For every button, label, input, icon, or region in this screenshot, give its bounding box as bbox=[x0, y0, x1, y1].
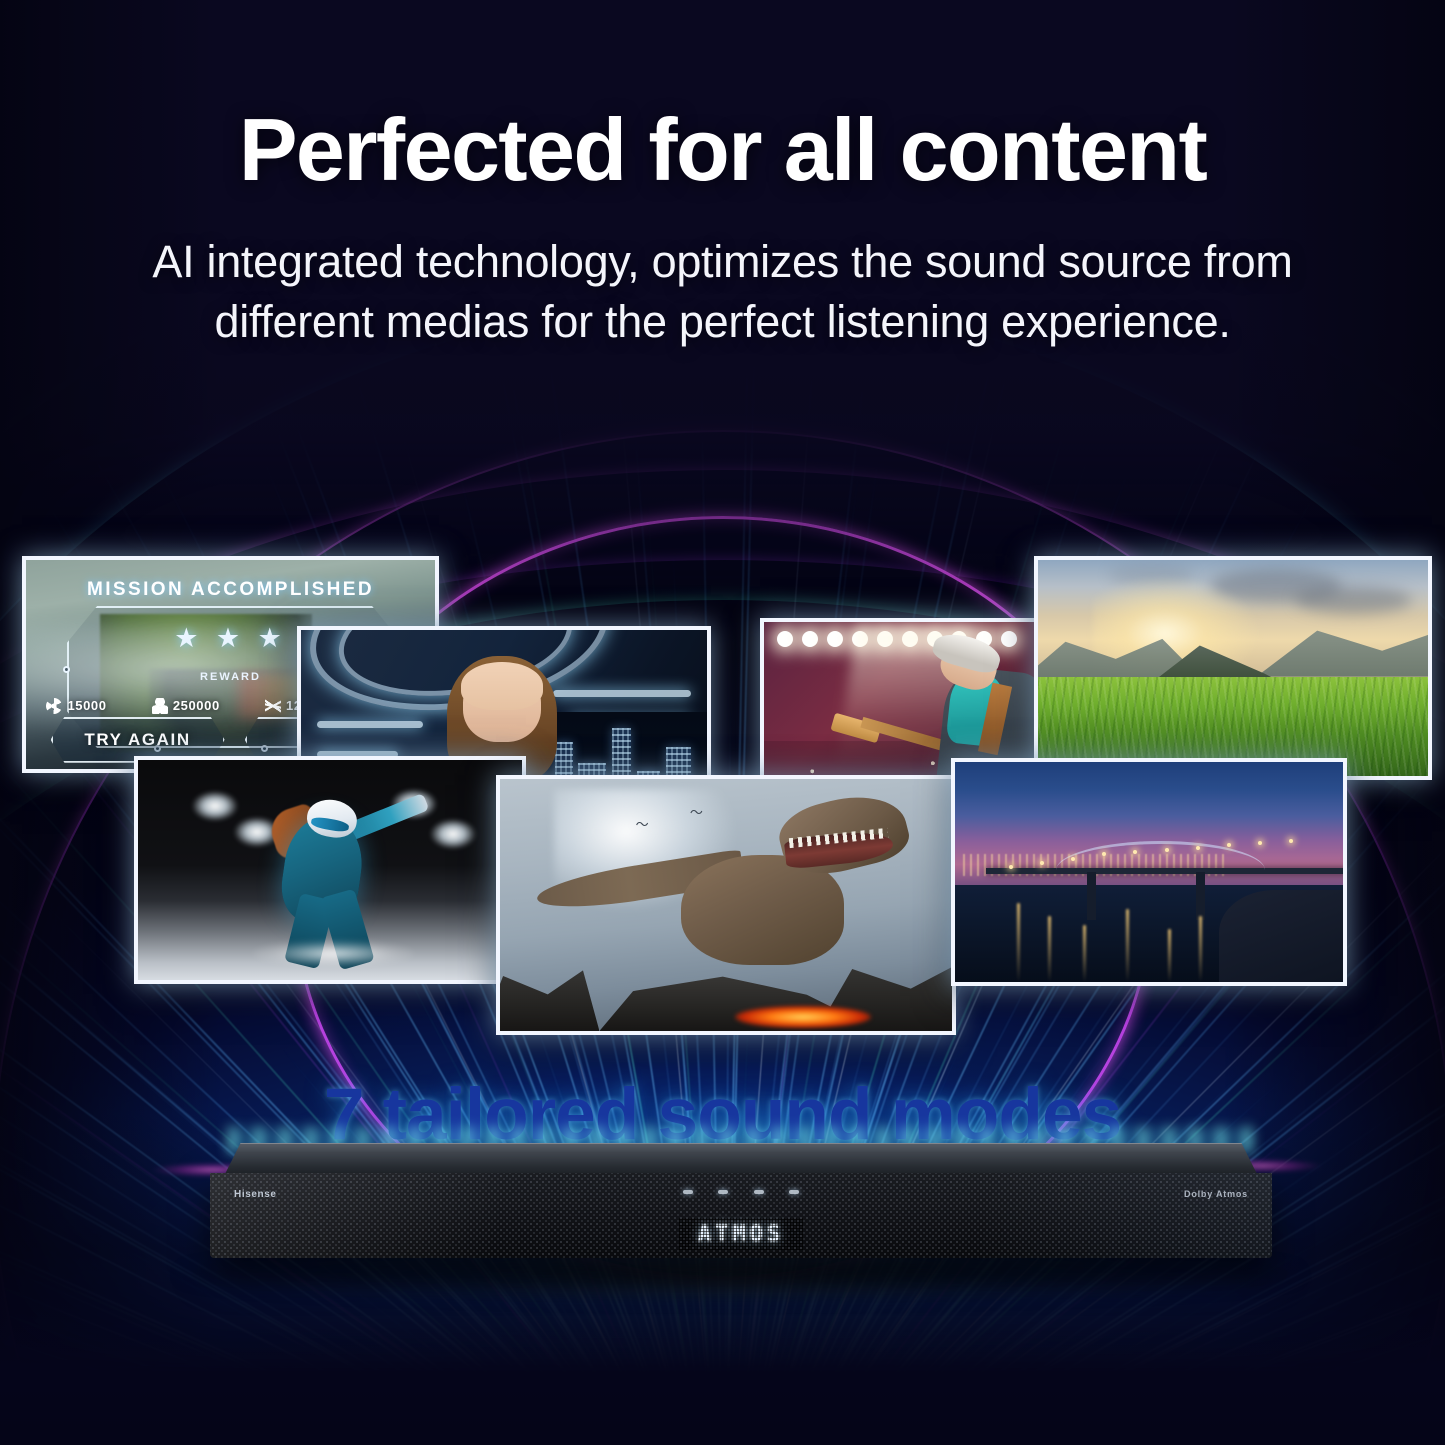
soundbar-product: Hisense Dolby Atmos ATMOS bbox=[210, 1143, 1272, 1258]
control-key-source[interactable] bbox=[718, 1190, 728, 1194]
dolby-atmos-logo: Dolby Atmos bbox=[1184, 1189, 1248, 1199]
content-panel-movie: 〜 〜 ✦ bbox=[496, 775, 956, 1035]
fan-icon bbox=[46, 698, 62, 714]
content-panel-sports bbox=[134, 756, 526, 984]
control-key-volume-up[interactable] bbox=[789, 1190, 799, 1194]
control-key-volume-down[interactable] bbox=[754, 1190, 764, 1194]
content-panel-night-city bbox=[951, 758, 1347, 986]
reward-item: 250000 bbox=[152, 698, 220, 714]
product-feature-banner: Perfected for all content AI integrated … bbox=[0, 0, 1445, 1445]
page-subtitle: AI integrated technology, optimizes the … bbox=[143, 232, 1303, 352]
soundbar-top-surface bbox=[224, 1143, 1258, 1176]
reward-item: 15000 bbox=[46, 698, 106, 714]
reward-value: 250000 bbox=[173, 698, 220, 713]
page-title: Perfected for all content bbox=[0, 104, 1445, 196]
soundbar-controls[interactable] bbox=[683, 1187, 799, 1197]
brand-logo: Hisense bbox=[234, 1189, 277, 1200]
led-display: ATMOS bbox=[679, 1218, 803, 1250]
reward-value: 15000 bbox=[67, 698, 106, 713]
soundbar-front-face: Hisense Dolby Atmos ATMOS bbox=[210, 1173, 1272, 1258]
content-panel-nature bbox=[1034, 556, 1432, 780]
wheat-icon bbox=[265, 698, 281, 714]
mission-title: MISSION ACCOMPLISHED bbox=[26, 579, 435, 601]
dots-icon bbox=[152, 698, 168, 714]
control-key-power[interactable] bbox=[683, 1190, 693, 1194]
